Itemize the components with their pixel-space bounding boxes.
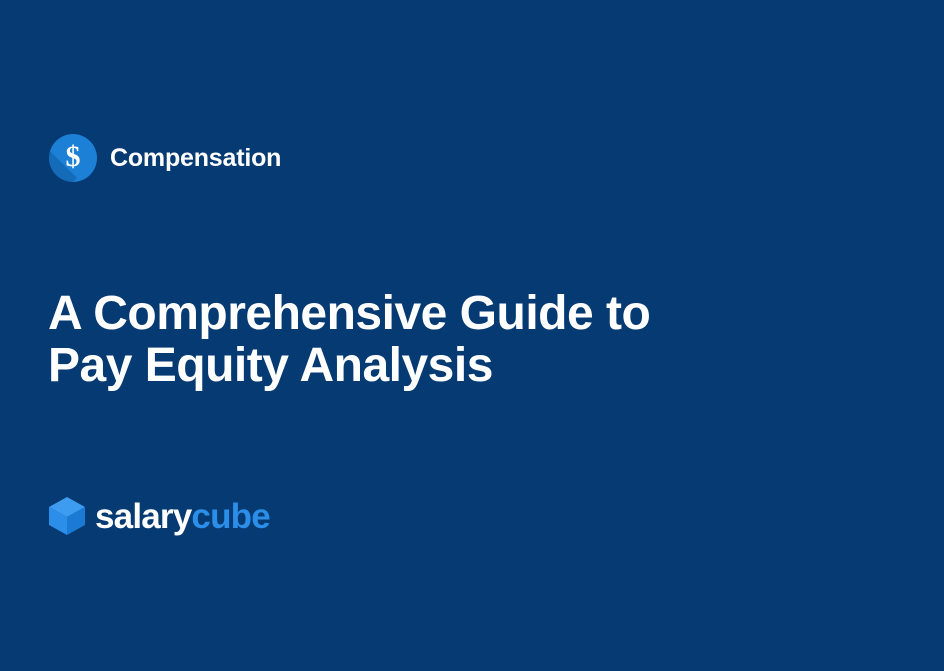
category-badge-row: $ Compensation	[49, 134, 281, 182]
page-title-line-2: Pay Equity Analysis	[48, 340, 788, 392]
brand-wordmark-cube: cube	[191, 497, 270, 536]
brand-logo: salarycube	[48, 496, 270, 536]
dollar-sign-badge-icon: $	[49, 134, 97, 182]
page-title: A Comprehensive Guide to Pay Equity Anal…	[48, 288, 788, 392]
brand-wordmark-salary: salary	[95, 497, 191, 536]
category-label: Compensation	[110, 144, 281, 173]
dollar-sign-glyph: $	[49, 134, 97, 182]
page-title-line-1: A Comprehensive Guide to	[48, 288, 788, 340]
title-slide: $ Compensation A Comprehensive Guide to …	[0, 0, 944, 671]
brand-wordmark: salarycube	[95, 499, 270, 534]
cube-icon	[48, 496, 86, 536]
